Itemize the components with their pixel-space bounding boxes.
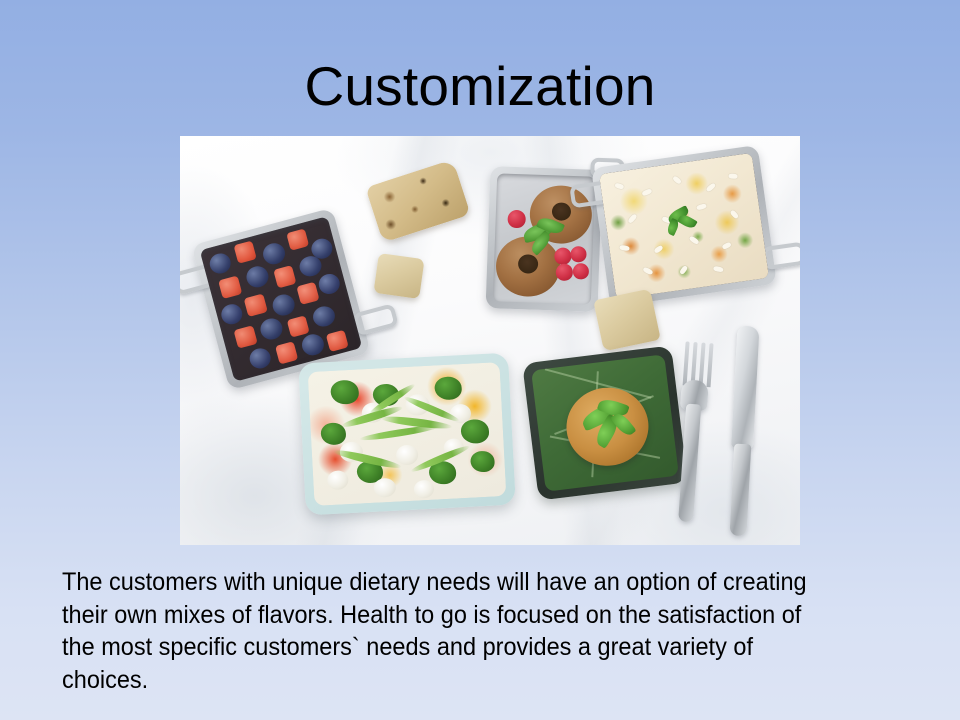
berry-tray-inner (200, 216, 363, 382)
raspberry-1 (507, 210, 526, 229)
slide: Customization (0, 0, 960, 720)
leaf-tray (522, 345, 688, 500)
rice-tray (591, 145, 777, 307)
salad-box-inner (308, 362, 507, 506)
bread-cube (373, 253, 424, 299)
leaf-tray-inner (531, 354, 679, 491)
rice-tray-inner (599, 153, 769, 299)
raspberry-3 (570, 246, 587, 263)
raspberry-2 (554, 247, 572, 265)
salad-box (298, 353, 516, 516)
rice-bed (599, 153, 769, 299)
raspberry-4 (556, 263, 574, 281)
body-text: The customers with unique dietary needs … (62, 566, 823, 696)
food-photo (180, 136, 800, 545)
raspberry-5 (573, 263, 590, 280)
page-title: Customization (0, 54, 960, 118)
